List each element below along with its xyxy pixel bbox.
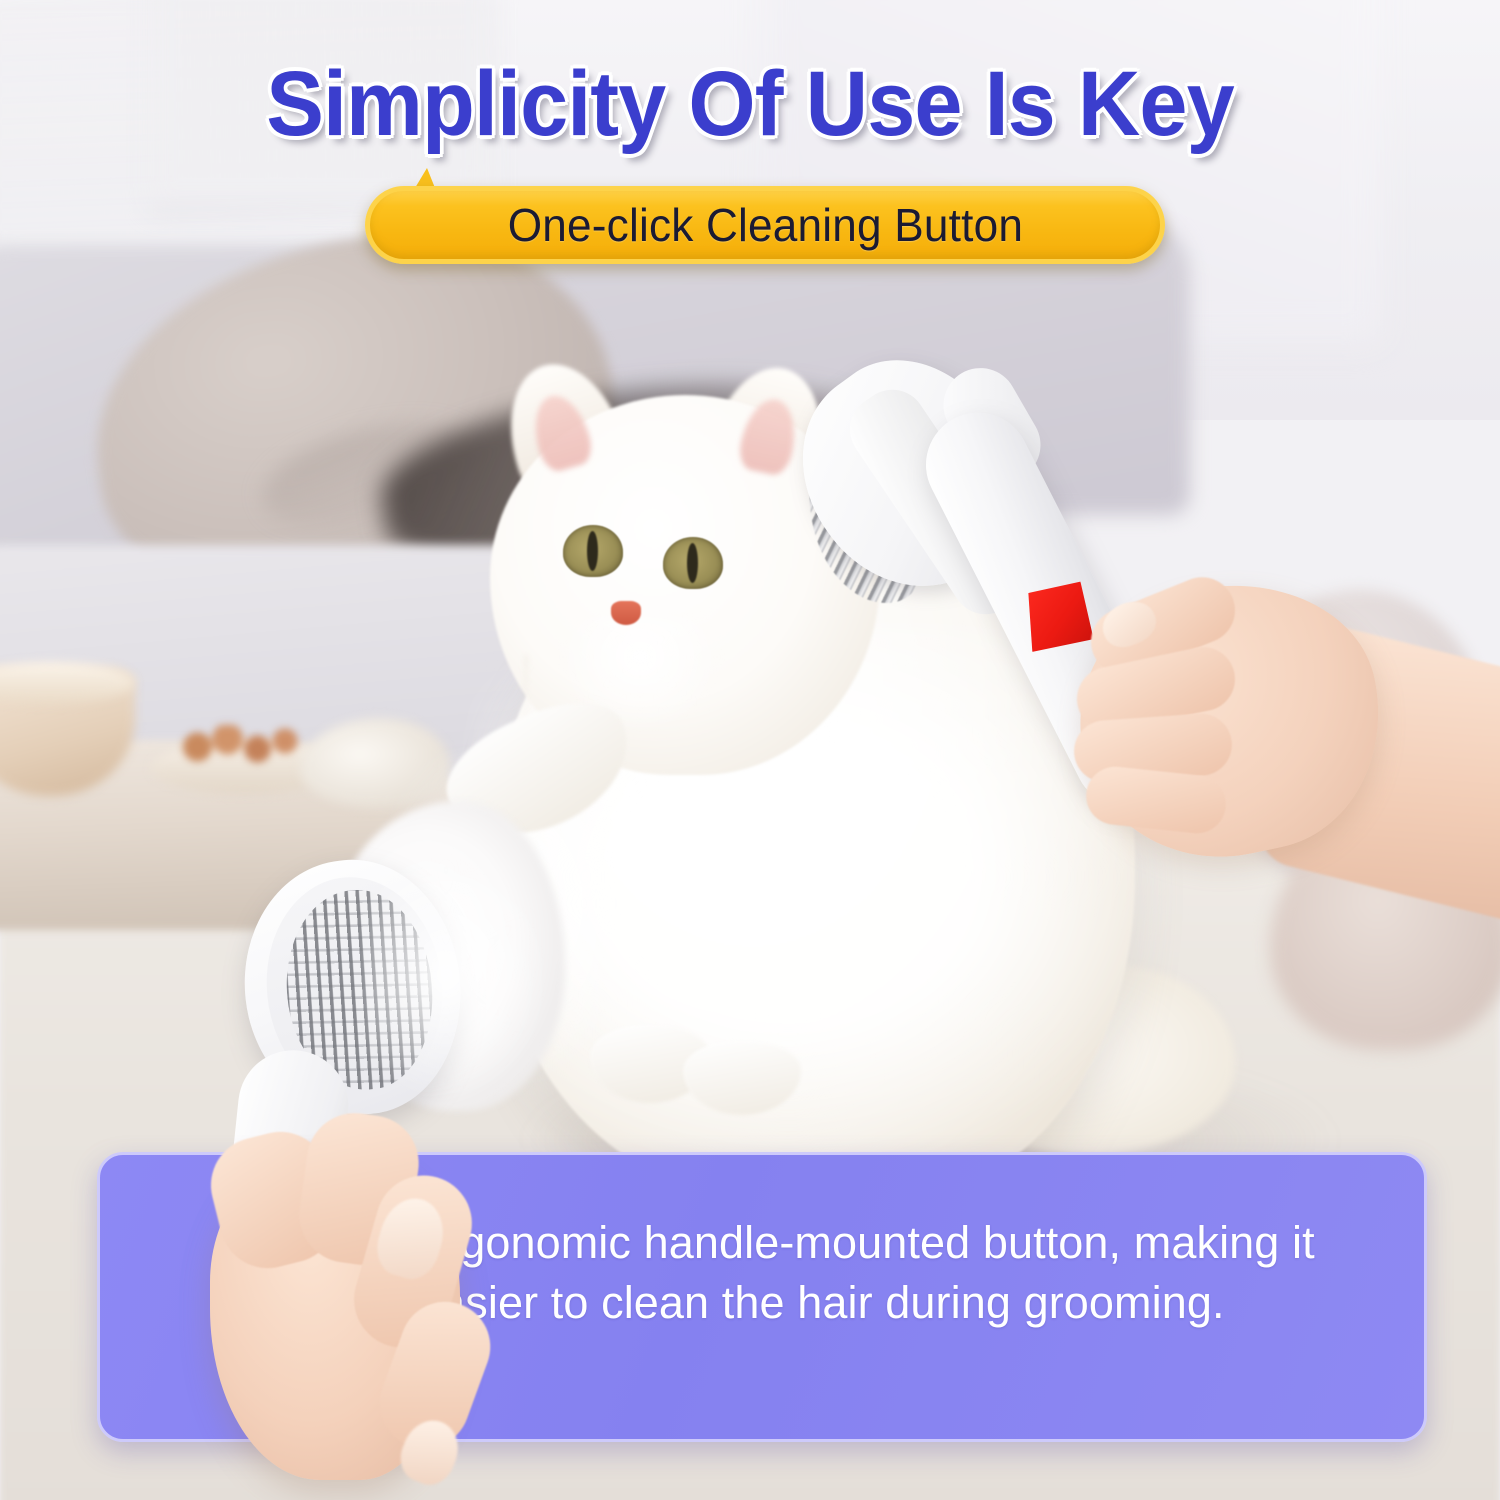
subtitle-badge-label: One-click Cleaning Button	[507, 198, 1022, 252]
collected-pet-hair-highlight	[365, 855, 545, 1095]
hand-holding-brush-bottom	[175, 1120, 505, 1500]
cat-nose	[611, 601, 641, 625]
cat-pupil-left	[587, 531, 598, 571]
table-snacks	[175, 725, 300, 765]
subtitle-badge-wrapper: One-click Cleaning Button	[365, 168, 1165, 274]
cat-pupil-right	[687, 543, 698, 583]
subtitle-badge: One-click Cleaning Button	[365, 186, 1165, 264]
headline-title: Simplicity Of Use Is Key	[45, 52, 1455, 157]
hand-holding-brush-top	[1060, 545, 1500, 945]
feature-caption-text: Ergonomic handle-mounted button, making …	[415, 1213, 1375, 1333]
